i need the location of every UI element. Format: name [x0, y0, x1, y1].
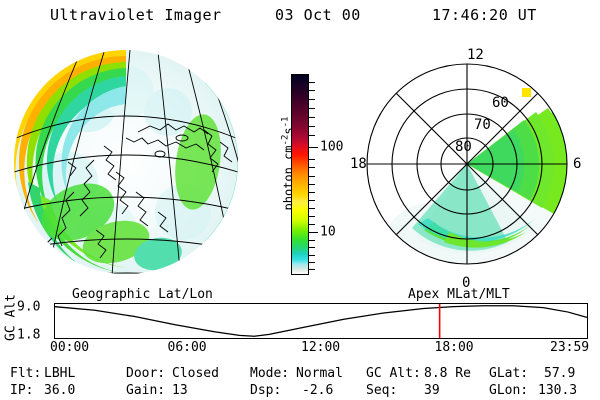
colorbar-minor-tick: [309, 108, 315, 109]
geographic-image-canvas: [8, 42, 266, 290]
colorbar-minor-tick: [309, 90, 315, 91]
colorbar-minor-tick: [309, 208, 315, 209]
colorbar-gradient: [292, 75, 308, 274]
globe-disk: [11, 50, 255, 278]
colorbar-major-tick: [309, 147, 318, 148]
status-bar: Flt:LBHLDoor:ClosedMode:NormalGC Alt:8.8…: [0, 362, 600, 400]
colorbar-minor-tick: [309, 269, 315, 270]
colorbar-minor-tick: [309, 135, 315, 136]
status-value: LBHL: [44, 367, 75, 380]
observation-date: 03 Oct 00: [275, 6, 361, 24]
colorbar-units-exp2: -1: [281, 117, 291, 128]
colorbar-minor-tick: [309, 240, 315, 241]
status-value: 36.0: [44, 384, 75, 397]
status-label: Seq:: [366, 384, 397, 397]
mlat-label-80: 80: [455, 140, 472, 154]
status-label: GLon:: [489, 384, 528, 397]
status-value: Closed: [172, 367, 219, 380]
colorbar-gradient-box: [291, 74, 309, 275]
colorbar-minor-tick: [309, 82, 315, 83]
page-title: Ultraviolet Imager: [50, 6, 222, 24]
colorbar-minor-tick: [309, 255, 315, 256]
time-axis-tick: 23:59: [550, 341, 589, 354]
colorbar-minor-tick: [309, 117, 315, 118]
status-value: 130.3: [538, 384, 577, 397]
colorbar-minor-tick: [309, 126, 315, 127]
polar-panel-caption: Apex MLat/MLT: [406, 287, 512, 302]
colorbar-minor-tick: [309, 200, 315, 201]
gc-altitude-timeline[interactable]: GC Alt Geographic Lat/Lon Apex MLat/MLT …: [0, 292, 600, 358]
status-value: 8.8 Re: [424, 367, 471, 380]
status-value: -2.6: [302, 384, 333, 397]
time-axis-tick: 18:00: [435, 341, 474, 354]
time-axis-tick: 06:00: [168, 341, 207, 354]
altitude-ytick-top: 9.0: [17, 301, 40, 314]
status-value: 57.9: [544, 367, 575, 380]
observation-time: 17:46:20 UT: [432, 6, 537, 24]
colorbar-tick-label: 100: [320, 141, 343, 154]
colorbar-minor-tick: [309, 99, 315, 100]
colorbar-minor-tick: [309, 192, 315, 193]
mlt-label-12: 12: [467, 48, 484, 62]
status-label: Gain:: [126, 384, 165, 397]
time-axis-tick: 00:00: [50, 341, 89, 354]
time-axis-tick: 12:00: [301, 341, 340, 354]
status-label: IP:: [10, 384, 33, 397]
colorbar-major-tick: [309, 232, 318, 233]
status-label: Dsp:: [250, 384, 281, 397]
colorbar-minor-tick: [309, 167, 315, 168]
colorbar-units-exp1: -2: [281, 135, 291, 146]
status-value: 39: [424, 384, 440, 397]
polar-mlat-mlt-plot[interactable]: 121860607080: [348, 42, 592, 292]
colorbar-minor-tick: [309, 159, 315, 160]
colorbar-minor-tick: [309, 224, 315, 225]
altitude-plot-box: [54, 303, 588, 339]
status-label: GLat:: [489, 367, 528, 380]
altitude-ytick-bottom: 1.8: [17, 329, 40, 342]
polar-plot-canvas: [348, 42, 592, 292]
colorbar-minor-tick: [309, 184, 315, 185]
spacecraft-footpoint-marker: [522, 88, 531, 97]
geographic-aurora-image[interactable]: [8, 42, 266, 290]
polar-grid: [367, 64, 567, 264]
colorbar-minor-tick: [309, 176, 315, 177]
status-value: Normal: [296, 367, 343, 380]
colorbar-minor-tick: [309, 247, 315, 248]
mlt-label-18: 18: [350, 157, 367, 171]
geo-panel-caption: Geographic Lat/Lon: [70, 287, 215, 302]
status-label: GC Alt:: [366, 367, 421, 380]
intensity-colorbar: photon cm-2s-1 10010: [270, 60, 345, 290]
mlat-label-60: 60: [492, 96, 509, 110]
altitude-curve-canvas: [55, 304, 587, 338]
mlat-label-70: 70: [474, 118, 491, 132]
colorbar-minor-tick: [309, 216, 315, 217]
status-value: 13: [172, 384, 188, 397]
colorbar-minor-tick: [309, 262, 315, 263]
header-bar: Ultraviolet Imager 03 Oct 00 17:46:20 UT: [0, 6, 600, 28]
status-label: Flt:: [10, 367, 41, 380]
status-label: Mode:: [250, 367, 289, 380]
colorbar-tick-label: 10: [320, 225, 336, 238]
altitude-curve: [55, 306, 587, 336]
status-label: Door:: [126, 367, 165, 380]
mlt-label-6: 6: [573, 157, 581, 171]
